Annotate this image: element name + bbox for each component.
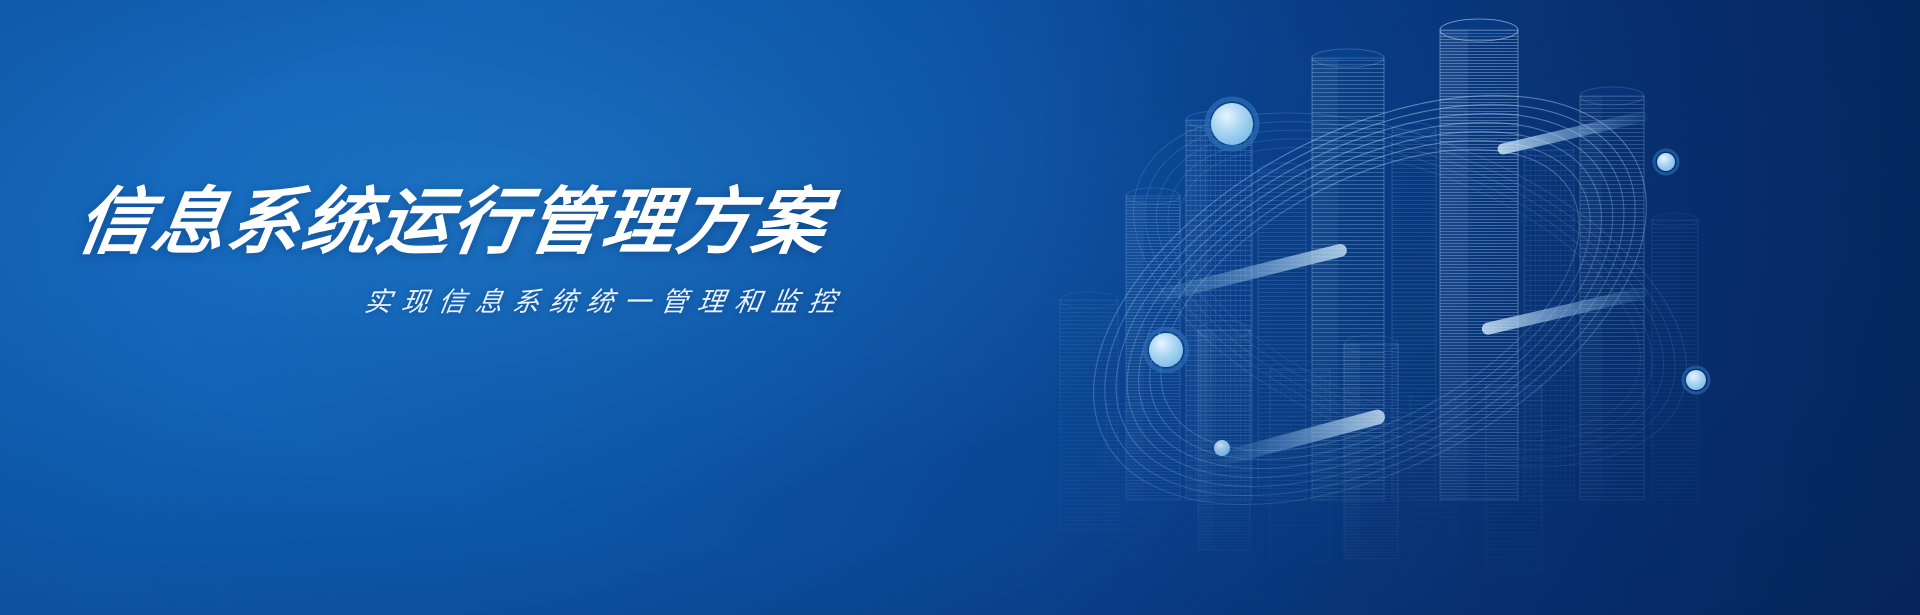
headline-block: 信息系统运行管理方案 实现信息系统统一管理和监控 [72, 186, 952, 319]
page-subtitle: 实现信息系统统一管理和监控 [72, 280, 958, 319]
banner-root: 信息系统运行管理方案 实现信息系统统一管理和监控 [0, 0, 1920, 615]
page-title: 信息系统运行管理方案 [72, 186, 964, 260]
background-right-shade [1037, 0, 1920, 615]
